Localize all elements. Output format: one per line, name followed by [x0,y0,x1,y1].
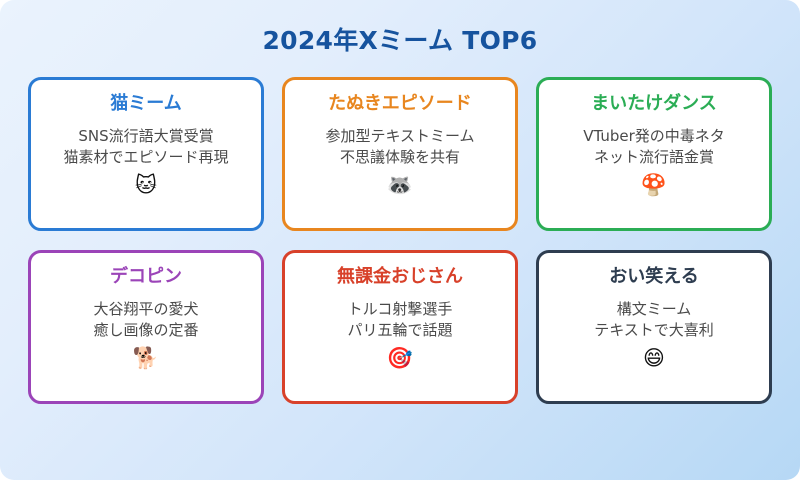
meme-card-desc-line-2: 不思議体験を共有 [325,147,474,168]
meme-card[interactable]: まいたけダンス VTuber発の中毒ネタ ネット流行語金賞 🍄 [536,77,772,231]
meme-card-description: 参加型テキストミーム 不思議体験を共有 [325,126,474,169]
meme-card-desc-line-2: パリ五輪で話題 [347,320,452,341]
dart-target-icon: 🎯 [387,348,413,369]
meme-card[interactable]: デコピン 大谷翔平の愛犬 癒し画像の定番 🐕 [28,250,264,404]
infographic-root: 2024年Xミーム TOP6 猫ミーム SNS流行語大賞受賞 猫素材でエピソード… [0,0,800,480]
meme-card[interactable]: 猫ミーム SNS流行語大賞受賞 猫素材でエピソード再現 🐱 [28,77,264,231]
meme-card-title: まいたけダンス [591,94,717,115]
meme-card-title: 猫ミーム [110,94,181,115]
meme-card-description: 構文ミーム テキストで大喜利 [594,299,714,342]
meme-card-title: 無課金おじさん [337,267,463,288]
meme-card-desc-line-2: 癒し画像の定番 [93,320,198,341]
meme-card-title: デコピン [110,267,182,288]
meme-card-desc-line-1: 大谷翔平の愛犬 [93,299,198,320]
meme-card[interactable]: 無課金おじさん トルコ射撃選手 パリ五輪で話題 🎯 [282,250,518,404]
meme-card[interactable]: たぬきエピソード 参加型テキストミーム 不思議体験を共有 🦝 [282,77,518,231]
meme-card-desc-line-1: VTuber発の中毒ネタ [583,126,725,147]
dog-icon: 🐕 [133,348,159,369]
page-title: 2024年Xミーム TOP6 [262,27,537,55]
meme-card-desc-line-2: ネット流行語金賞 [583,147,725,168]
meme-card[interactable]: おい笑える 構文ミーム テキストで大喜利 😄 [536,250,772,404]
meme-card-desc-line-1: 構文ミーム [594,299,714,320]
cat-face-icon: 🐱 [135,175,157,196]
grinning-face-icon: 😄 [643,348,665,369]
meme-card-description: VTuber発の中毒ネタ ネット流行語金賞 [583,126,725,169]
raccoon-icon: 🦝 [387,175,413,196]
meme-card-desc-line-1: 参加型テキストミーム [325,126,474,147]
meme-card-description: 大谷翔平の愛犬 癒し画像の定番 [93,299,198,342]
meme-card-desc-line-2: 猫素材でエピソード再現 [63,147,228,168]
meme-card-desc-line-2: テキストで大喜利 [594,320,714,341]
mushroom-icon: 🍄 [641,175,667,196]
meme-card-title: たぬきエピソード [328,94,472,115]
meme-card-desc-line-1: トルコ射撃選手 [347,299,452,320]
meme-card-description: トルコ射撃選手 パリ五輪で話題 [347,299,452,342]
meme-card-title: おい笑える [609,267,698,288]
meme-card-description: SNS流行語大賞受賞 猫素材でエピソード再現 [63,126,228,169]
meme-card-grid: 猫ミーム SNS流行語大賞受賞 猫素材でエピソード再現 🐱 たぬきエピソード 参… [28,77,772,404]
meme-card-desc-line-1: SNS流行語大賞受賞 [63,126,228,147]
